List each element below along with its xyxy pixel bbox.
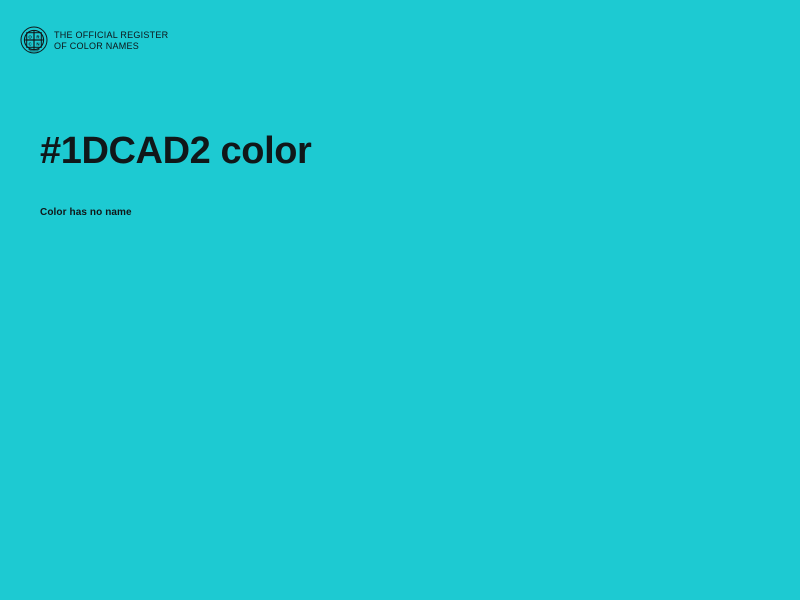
color-page: O R C N THE OFFICIAL REGISTER OF COLOR N… (0, 0, 800, 600)
svg-text:N: N (36, 42, 39, 47)
page-title: #1DCAD2 color (40, 128, 760, 174)
official-register-seal-icon: O R C N (20, 26, 48, 54)
main-content: #1DCAD2 color Color has no name (40, 128, 760, 220)
brand-line-1: THE OFFICIAL REGISTER (54, 30, 168, 41)
svg-text:O: O (28, 35, 32, 40)
brand-line-2: OF COLOR NAMES (54, 41, 168, 52)
brand-lockup[interactable]: O R C N THE OFFICIAL REGISTER OF COLOR N… (20, 26, 168, 54)
svg-text:C: C (29, 42, 33, 47)
svg-text:R: R (36, 35, 40, 40)
brand-name: THE OFFICIAL REGISTER OF COLOR NAMES (54, 29, 168, 51)
color-name-status: Color has no name (40, 174, 760, 220)
